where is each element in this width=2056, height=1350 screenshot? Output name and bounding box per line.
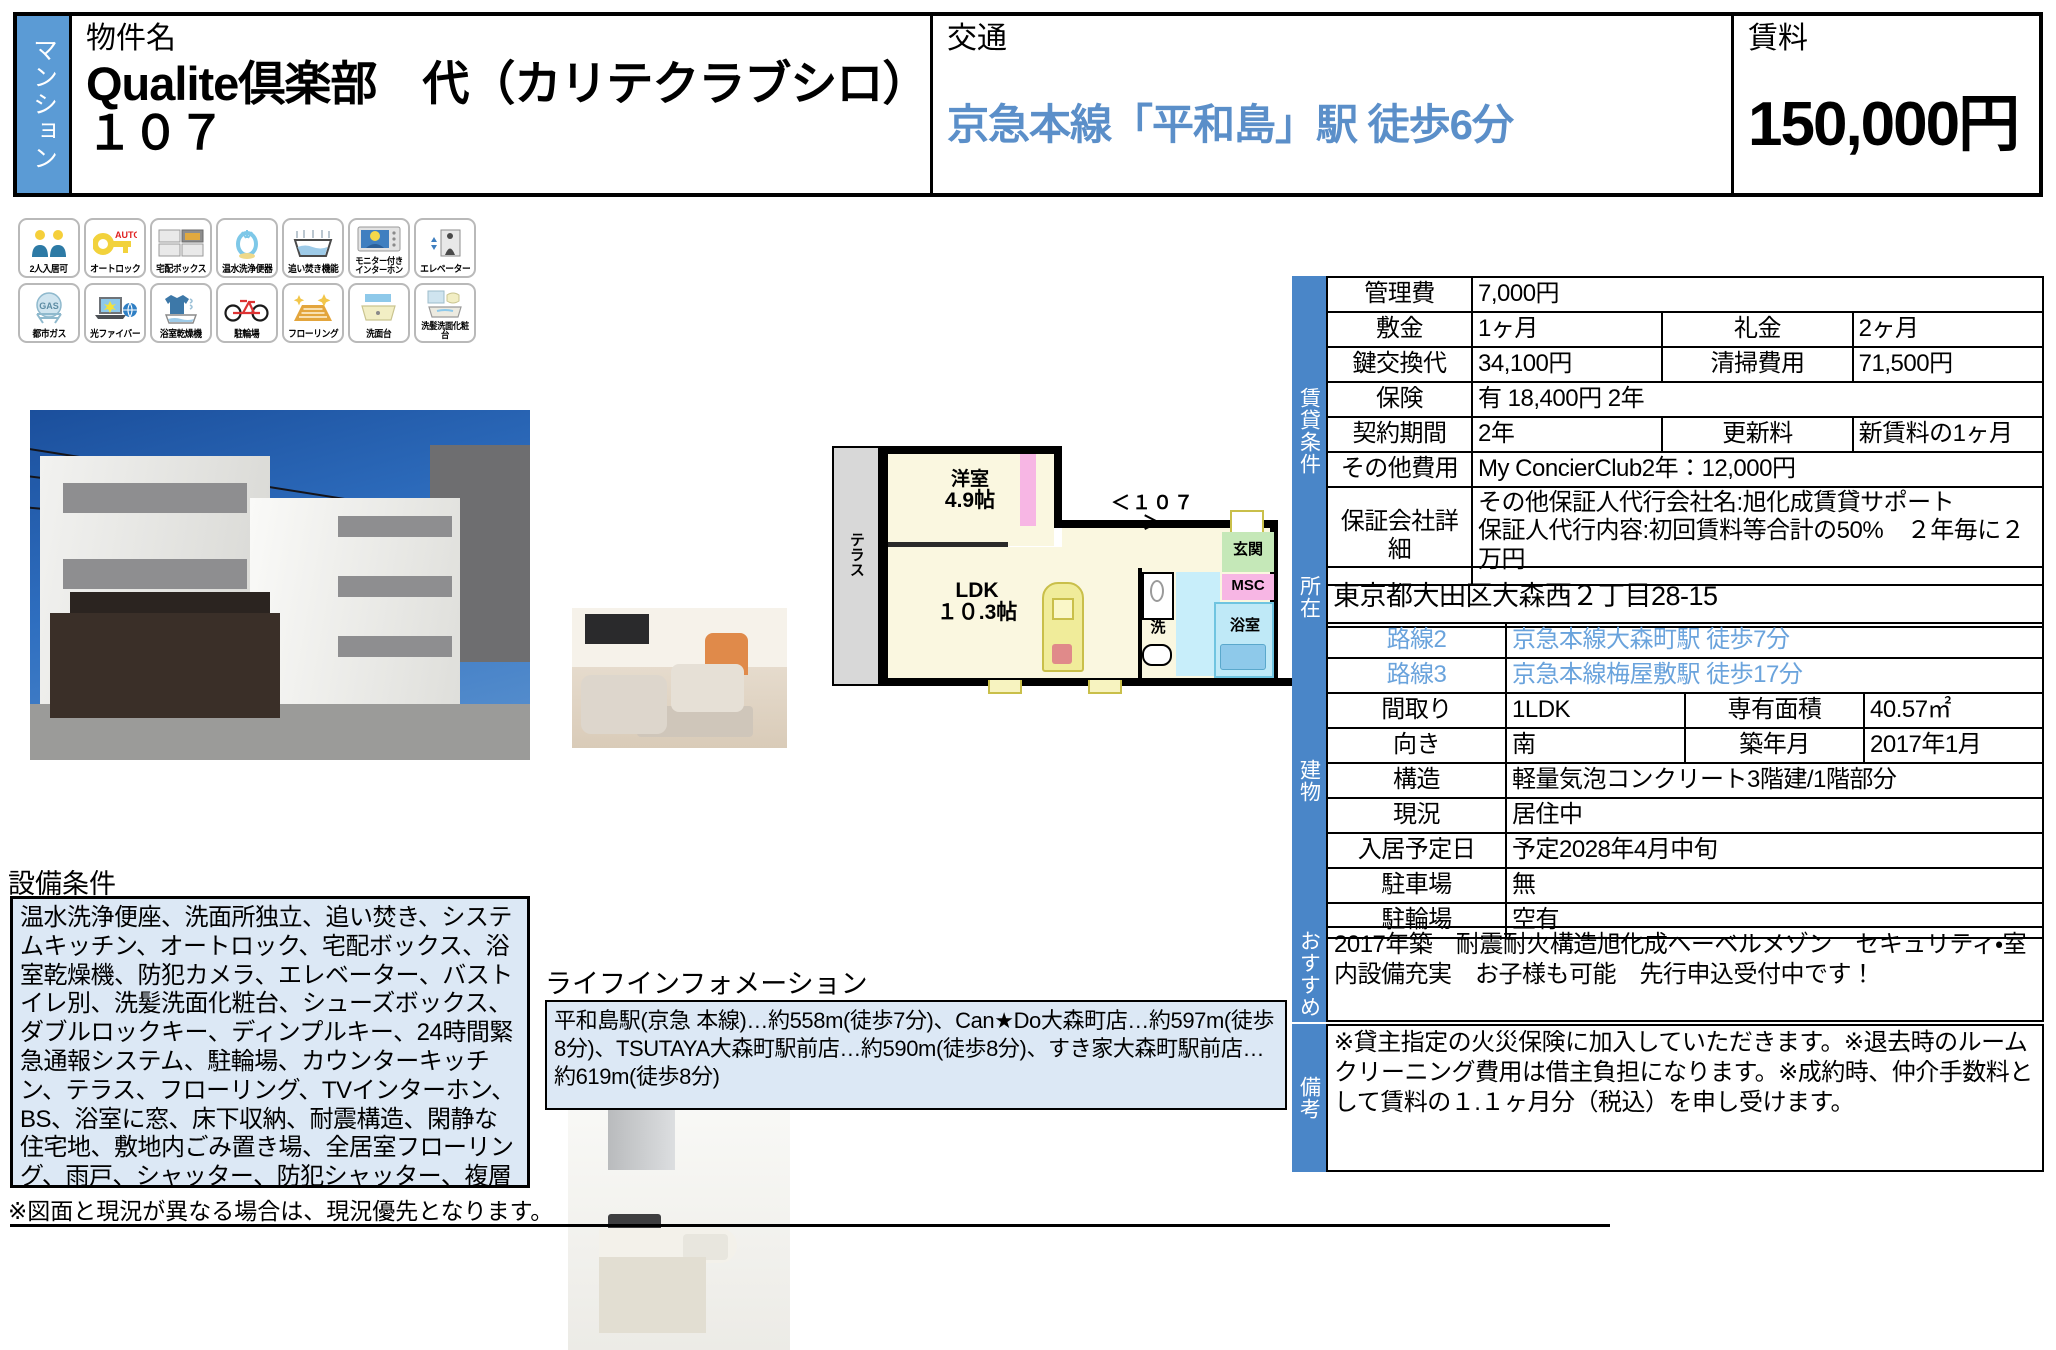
television — [585, 614, 650, 645]
access-value: 京急本線「平和島」駅 徒歩6分 — [947, 57, 1717, 194]
rental-conditions-tag-label: 賃貸条件 — [1299, 387, 1320, 475]
row-value: 有 18,400円 2年 — [1472, 382, 2043, 417]
table-row: 保険 有 18,400円 2年 — [1327, 382, 2043, 417]
wall — [1054, 446, 1062, 526]
toilet-fixture — [1150, 580, 1164, 602]
bathroom-dryer-icon: 浴室乾燥機 — [150, 283, 212, 343]
row-key: 入居予定日 — [1327, 833, 1506, 868]
row-key: その他費用 — [1327, 452, 1472, 487]
remarks-tag: 備考 — [1292, 1024, 1326, 1172]
feature-icon-caption: 追い焚き機能 — [288, 265, 338, 275]
door — [988, 680, 1022, 694]
row-value-2: 71,500円 — [1853, 347, 2043, 382]
row-key-2: 築年月 — [1685, 728, 1864, 763]
ldk-label: LDK１０.3帖 — [912, 580, 1042, 624]
row-key-2: 清掃費用 — [1662, 347, 1852, 382]
row-value: 居住中 — [1506, 798, 2043, 833]
row-value: 予定2028年4月中旬 — [1506, 833, 2043, 868]
living-room-photo — [572, 608, 787, 748]
feature-icon-caption: 浴室乾燥機 — [160, 330, 202, 340]
sink-fixture — [1052, 598, 1074, 620]
door — [1088, 680, 1122, 694]
monitor-intercom-icon: モニター付きインターホン — [348, 218, 410, 278]
bicycle-parking-icon: 駐輪場 — [216, 283, 278, 343]
location-tag-label: 所在 — [1299, 575, 1320, 619]
table-row: 路線2 京急本線大森町駅 徒歩7分 — [1327, 623, 2043, 658]
row-value-2: 2017年1月 — [1864, 728, 2043, 763]
table-row: 構造 軽量気泡コンクリート3階建/1階部分 — [1327, 763, 2043, 798]
row-key: 現況 — [1327, 798, 1506, 833]
property-name-label: 物件名 — [86, 22, 916, 57]
wall — [880, 446, 1062, 454]
row-value-2: 2ヶ月 — [1853, 312, 2043, 347]
row-value[interactable]: 京急本線梅屋敷駅 徒歩17分 — [1506, 658, 2043, 693]
feature-icon-grid: 2人入居可 AUTO オートロック — [18, 218, 538, 348]
building-right-face — [250, 498, 460, 729]
row-key-2: 専有面積 — [1685, 693, 1864, 728]
key-glyph: AUTO — [86, 220, 144, 265]
recommendation-tag: おすすめ — [1292, 926, 1326, 1022]
bedroom-label: 洋室4.9帖 — [910, 470, 1030, 512]
feature-icon-caption: 駐輪場 — [234, 330, 259, 340]
row-value: 南 — [1506, 728, 1685, 763]
shirt-dryer-glyph — [152, 285, 210, 330]
row-value[interactable]: 京急本線大森町駅 徒歩7分 — [1506, 623, 2043, 658]
feature-icon-caption: 洗髪洗面化粧台 — [418, 322, 471, 340]
category-tag: マンション — [17, 16, 69, 193]
category-tag-label: マンション — [31, 37, 56, 172]
bicycle-glyph — [218, 285, 276, 330]
laptop-globe-glyph — [86, 285, 144, 330]
row-value: 7,000円 — [1472, 277, 2043, 312]
feature-icon-row-1: 2人入居可 AUTO オートロック — [18, 218, 538, 278]
elevator-glyph — [416, 220, 474, 265]
location-table: 東京都大田区大森西２丁目28-15 — [1326, 566, 2044, 628]
row-key[interactable]: 路線2 — [1327, 623, 1506, 658]
feature-icon-caption: 温水洗浄便器 — [222, 265, 272, 275]
row-value: 34,100円 — [1472, 347, 1662, 382]
two-person-glyph — [20, 220, 78, 265]
row-key: 間取り — [1327, 693, 1506, 728]
row-value-2: 40.57㎡ — [1864, 693, 2043, 728]
row-key-2: 礼金 — [1662, 312, 1852, 347]
row-key: 向き — [1327, 728, 1506, 763]
feature-icon-caption: エレベーター — [420, 265, 470, 275]
basin-glyph — [350, 285, 408, 330]
table-row: 路線3 京急本線梅屋敷駅 徒歩17分 — [1327, 658, 2043, 693]
toilet-bowl — [1142, 644, 1172, 666]
table-row: 駐車場 無 — [1327, 868, 2043, 903]
msc-label: MSC — [1224, 578, 1272, 594]
property-header: マンション 物件名 Qualite倶楽部 代（カリテクラブシロ）１０７ 交通 京… — [13, 12, 2043, 197]
feature-icon-caption: モニター付きインターホン — [352, 257, 405, 275]
exterior-photo — [30, 410, 530, 760]
feature-icon-caption: 都市ガス — [32, 330, 65, 340]
rental-conditions-tag: 賃貸条件 — [1292, 276, 1326, 586]
floor-plan: テラス 洋室4.9帖 LDK１０.3帖 ＜１０７＞ 洗 玄関 MSC 浴室 — [830, 432, 1292, 702]
row-value-2: 新賃料の1ヶ月 — [1853, 417, 2043, 452]
rent-cell: 賃料 150,000円 — [1731, 16, 2039, 193]
table-row: 東京都大田区大森西２丁目28-15 — [1327, 567, 2043, 627]
property-name-cell: 物件名 Qualite倶楽部 代（カリテクラブシロ）１０７ — [69, 16, 930, 193]
remarks-tag-label: 備考 — [1299, 1076, 1320, 1120]
two-person-occupancy-icon: 2人入居可 — [18, 218, 80, 278]
row-value: 無 — [1506, 868, 2043, 903]
sofa-front — [581, 675, 667, 734]
property-name-value: Qualite倶楽部 代（カリテクラブシロ）１０７ — [86, 59, 916, 158]
locker-glyph — [152, 220, 210, 265]
row-value: 2年 — [1472, 417, 1662, 452]
unit-number-label: ＜１０７＞ — [1108, 494, 1198, 534]
delivery-box-icon: 宅配ボックス — [150, 218, 212, 278]
washlet-glyph — [218, 220, 276, 265]
table-row: 向き 南 築年月 2017年1月 — [1327, 728, 2043, 763]
row-key: 構造 — [1327, 763, 1506, 798]
bathtub-fixture — [1220, 644, 1266, 670]
sink — [683, 1234, 727, 1260]
row-key[interactable]: 路線3 — [1327, 658, 1506, 693]
washer-place-icon: 洗髪洗面化粧台 — [414, 283, 476, 343]
building-table: 路線2 京急本線大森町駅 徒歩7分 路線3 京急本線梅屋敷駅 徒歩17分 間取り… — [1326, 622, 2044, 939]
bicycle-gate — [50, 613, 280, 718]
table-row: 入居予定日 予定2028年4月中旬 — [1327, 833, 2043, 868]
remarks-block: 備考 ※貸主指定の火災保険に加入していただきます。※退去時のルームクリーニング費… — [1292, 1024, 2044, 1172]
vanity-glyph — [416, 285, 474, 322]
recommendation-tag-label: おすすめ — [1299, 930, 1320, 1018]
sofa-back — [671, 664, 744, 712]
footer-rule — [10, 1224, 1610, 1227]
row-key: 契約期間 — [1327, 417, 1472, 452]
feature-icon-caption: オートロック — [90, 265, 140, 275]
access-cell: 交通 京急本線「平和島」駅 徒歩6分 — [930, 16, 1731, 193]
terrace-label: テラス — [836, 532, 876, 581]
flooring-icon: フローリング — [282, 283, 344, 343]
floor-shine-glyph — [284, 285, 342, 330]
stove-fixture — [1052, 644, 1072, 664]
row-key: 鍵交換代 — [1327, 347, 1472, 382]
recommendation-block: おすすめ 2017年築 耐震耐火構造旭化成ヘーベルメゾン セキュリティ・室内設備… — [1292, 926, 2044, 1022]
remarks-text: ※貸主指定の火災保険に加入していただきます。※退去時のルームクリーニング費用は借… — [1326, 1024, 2044, 1172]
table-row: 管理費 7,000円 — [1327, 277, 2043, 312]
washroom-label: 洗 — [1140, 620, 1176, 636]
city-gas-icon: GAS 都市ガス — [18, 283, 80, 343]
row-key: 保険 — [1327, 382, 1472, 417]
access-label: 交通 — [947, 22, 1717, 57]
table-row: 鍵交換代 34,100円 清掃費用 71,500円 — [1327, 347, 2043, 382]
table-row: その他費用 My ConcierClub2年：12,000円 — [1327, 452, 2043, 487]
rental-conditions-table: 管理費 7,000円 敷金 1ヶ月 礼金 2ヶ月 鍵交換代 34,100円 清掃… — [1326, 276, 2044, 586]
building-tag-label: 建物 — [1299, 759, 1320, 803]
feature-icon-caption: 宅配ボックス — [156, 265, 206, 275]
optical-fiber-icon: 光ファイバー — [84, 283, 146, 343]
warm-water-washlet-icon: 温水洗浄便器 — [216, 218, 278, 278]
entrance-label: 玄関 — [1226, 542, 1270, 558]
table-row: 現況 居住中 — [1327, 798, 2043, 833]
row-value: 1LDK — [1506, 693, 1685, 728]
table-row: 間取り 1LDK 専有面積 40.57㎡ — [1327, 693, 2043, 728]
feature-icon-caption: 2人入居可 — [30, 265, 68, 275]
location-tag: 所在 — [1292, 566, 1326, 628]
row-value: My ConcierClub2年：12,000円 — [1472, 452, 2043, 487]
building-block: 建物 路線2 京急本線大森町駅 徒歩7分 路線3 京急本線梅屋敷駅 徒歩17分 … — [1292, 622, 2044, 939]
equipment-text: 温水洗浄便座、洗面所独立、追い焚き、システムキッチン、オートロック、宅配ボックス… — [10, 896, 530, 1188]
feature-icon-caption: 光ファイバー — [90, 330, 140, 340]
entrance-door — [1230, 510, 1264, 532]
address-value: 東京都大田区大森西２丁目28-15 — [1327, 567, 2043, 627]
table-row: 敷金 1ヶ月 礼金 2ヶ月 — [1327, 312, 2043, 347]
rental-conditions-block: 賃貸条件 管理費 7,000円 敷金 1ヶ月 礼金 2ヶ月 鍵交換代 34,10… — [1292, 276, 2044, 586]
row-value: 軽量気泡コンクリート3階建/1階部分 — [1506, 763, 2043, 798]
location-block: 所在 東京都大田区大森西２丁目28-15 — [1292, 566, 2044, 628]
recommendation-text: 2017年築 耐震耐火構造旭化成ヘーベルメゾン セキュリティ・室内設備充実 お子… — [1326, 926, 2044, 1022]
rent-label: 賃料 — [1748, 22, 2025, 57]
row-value: 1ヶ月 — [1472, 312, 1662, 347]
svg-text:AUTO: AUTO — [115, 230, 137, 240]
feature-icon-caption: フローリング — [288, 330, 338, 340]
washstand-icon: 洗面台 — [348, 283, 410, 343]
rent-value: 150,000円 — [1748, 57, 2025, 194]
intercom-glyph — [350, 220, 408, 257]
life-information-title: ライフインフォメーション — [545, 962, 868, 1001]
gas-tank-glyph: GAS — [20, 285, 78, 330]
row-key: 敷金 — [1327, 312, 1472, 347]
row-key: 駐車場 — [1327, 868, 1506, 903]
bathroom-label: 浴室 — [1218, 618, 1272, 634]
row-key-2: 更新料 — [1662, 417, 1852, 452]
svg-text:GAS: GAS — [39, 301, 59, 311]
wall — [880, 446, 888, 686]
reheating-bath-icon: 追い焚き機能 — [282, 218, 344, 278]
feature-icon-caption: 洗面台 — [366, 330, 391, 340]
bathtub-glyph — [284, 220, 342, 265]
table-row: 契約期間 2年 更新料 新賃料の1ヶ月 — [1327, 417, 2043, 452]
feature-icon-row-2: GAS 都市ガス 光ファイバー — [18, 283, 538, 343]
row-key: 管理費 — [1327, 277, 1472, 312]
cabinet — [599, 1257, 706, 1332]
life-information-text: 平和島駅(京急 本線)…約558m(徒歩7分)、Can★Do大森町店…約597m… — [545, 1000, 1287, 1110]
auto-lock-icon: AUTO オートロック — [84, 218, 146, 278]
equipment-note: ※図面と現況が異なる場合は、現況優先となります。 — [8, 1192, 553, 1226]
building-tag: 建物 — [1292, 622, 1326, 939]
elevator-icon: エレベーター — [414, 218, 476, 278]
